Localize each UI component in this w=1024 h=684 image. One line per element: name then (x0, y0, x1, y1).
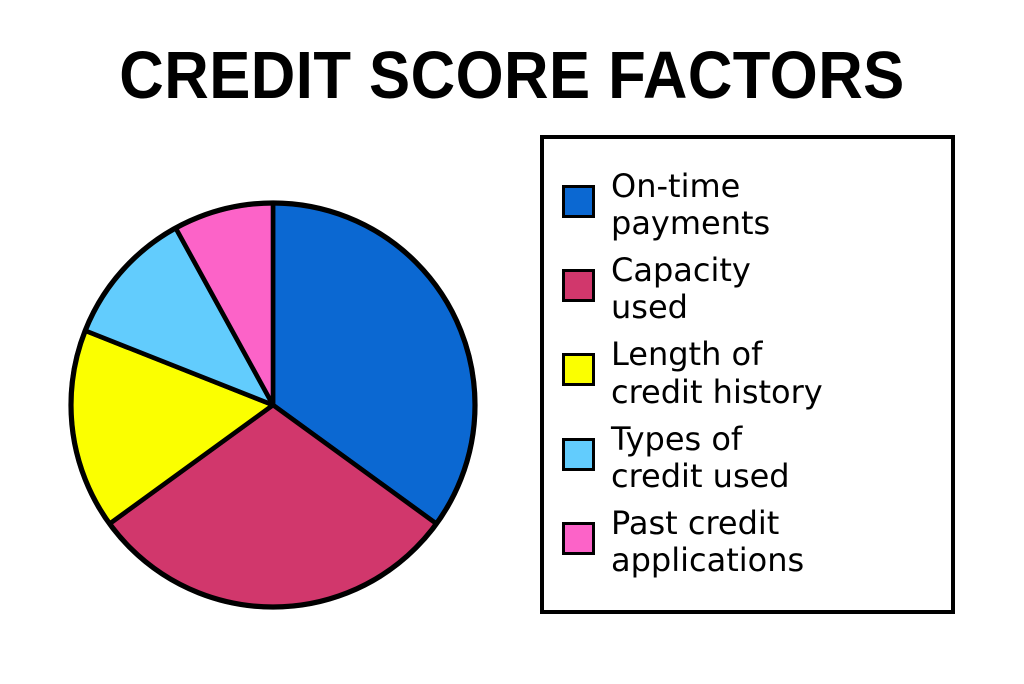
legend: On-time paymentsCapacity usedLength of c… (540, 135, 955, 614)
legend-item-list: On-time paymentsCapacity usedLength of c… (562, 166, 942, 587)
pie-chart-svg (63, 195, 483, 615)
legend-item-label: Types of credit used (611, 419, 942, 495)
legend-color-swatch (562, 269, 595, 302)
legend-item-label: On-time payments (611, 166, 942, 242)
legend-color-swatch (562, 438, 595, 471)
legend-color-swatch (562, 185, 595, 218)
legend-item[interactable]: Past credit applications (562, 503, 942, 579)
legend-item[interactable]: Length of credit history (562, 334, 942, 410)
pie-chart (63, 195, 483, 615)
legend-item[interactable]: Capacity used (562, 250, 942, 326)
legend-item-label: Past credit applications (611, 503, 942, 579)
chart-canvas: CREDIT SCORE FACTORS On-time paymentsCap… (0, 0, 1024, 684)
legend-item-label: Capacity used (611, 250, 942, 326)
legend-item[interactable]: Types of credit used (562, 419, 942, 495)
legend-item-label: Length of credit history (611, 334, 942, 410)
page-title: CREDIT SCORE FACTORS (41, 42, 983, 109)
legend-item[interactable]: On-time payments (562, 166, 942, 242)
legend-color-swatch (562, 522, 595, 555)
legend-color-swatch (562, 353, 595, 386)
